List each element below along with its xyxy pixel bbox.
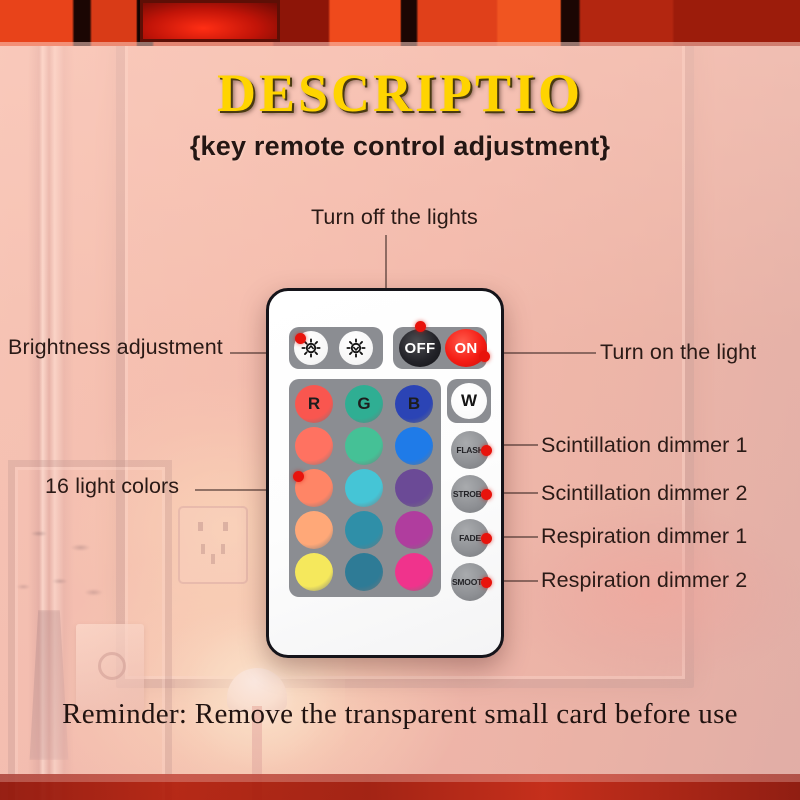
bottom-red-band <box>0 774 800 800</box>
wall-artwork <box>140 0 280 42</box>
callout-scintillation-1: Scintillation dimmer 1 <box>541 433 748 458</box>
color-swatch-13[interactable] <box>295 553 333 591</box>
callout-brightness: Brightness adjustment <box>8 335 223 360</box>
sun-down-icon <box>345 337 367 359</box>
infographic-canvas: DESCRIPTIO {key remote control adjustmen… <box>0 0 800 800</box>
color-swatch-9[interactable] <box>395 469 433 507</box>
color-swatch-11[interactable] <box>345 511 383 549</box>
brightness-down-button[interactable] <box>339 331 373 365</box>
dried-flowers <box>0 500 130 640</box>
power-off-button[interactable]: OFF <box>399 329 441 367</box>
callout-respiration-2: Respiration dimmer 2 <box>541 568 747 593</box>
color-swatch-1[interactable]: R <box>295 385 333 423</box>
marker-dot-flash <box>481 445 492 456</box>
marker-dot-on <box>479 351 490 362</box>
color-swatch-8[interactable] <box>345 469 383 507</box>
color-swatch-12[interactable] <box>395 511 433 549</box>
color-swatch-6[interactable] <box>395 427 433 465</box>
callout-turn-off-lights: Turn off the lights <box>311 205 478 230</box>
marker-dot-brightness <box>295 333 306 344</box>
callout-scintillation-2: Scintillation dimmer 2 <box>541 481 748 506</box>
white-color-button[interactable]: W <box>451 383 487 419</box>
page-title: DESCRIPTIO <box>0 62 800 124</box>
color-swatch-15[interactable] <box>395 553 433 591</box>
color-swatch-14[interactable] <box>345 553 383 591</box>
color-swatch-10[interactable] <box>295 511 333 549</box>
top-red-band <box>0 0 800 46</box>
marker-dot-smooth <box>481 577 492 588</box>
marker-dot-fade <box>481 533 492 544</box>
color-swatch-3[interactable]: B <box>395 385 433 423</box>
leader-turn-on <box>496 352 596 354</box>
marker-dot-off <box>415 321 426 332</box>
color-swatch-4[interactable] <box>295 427 333 465</box>
marker-dot-strobe <box>481 489 492 500</box>
reminder-text: Reminder: Remove the transparent small c… <box>0 698 800 731</box>
background-right-object <box>470 470 800 730</box>
power-on-button[interactable]: ON <box>445 329 487 367</box>
remote-control: OFF ON W RGB FLASHSTROBEFADESMOOTH <box>266 288 504 658</box>
wall-outlet <box>178 506 248 584</box>
callout-16-light-colors: 16 light colors <box>45 474 179 499</box>
callout-turn-on-light: Turn on the light <box>600 340 756 365</box>
marker-dot-colors <box>293 471 304 482</box>
page-subtitle: {key remote control adjustment} <box>0 131 800 162</box>
color-swatch-5[interactable] <box>345 427 383 465</box>
color-swatch-2[interactable]: G <box>345 385 383 423</box>
callout-respiration-1: Respiration dimmer 1 <box>541 524 747 549</box>
